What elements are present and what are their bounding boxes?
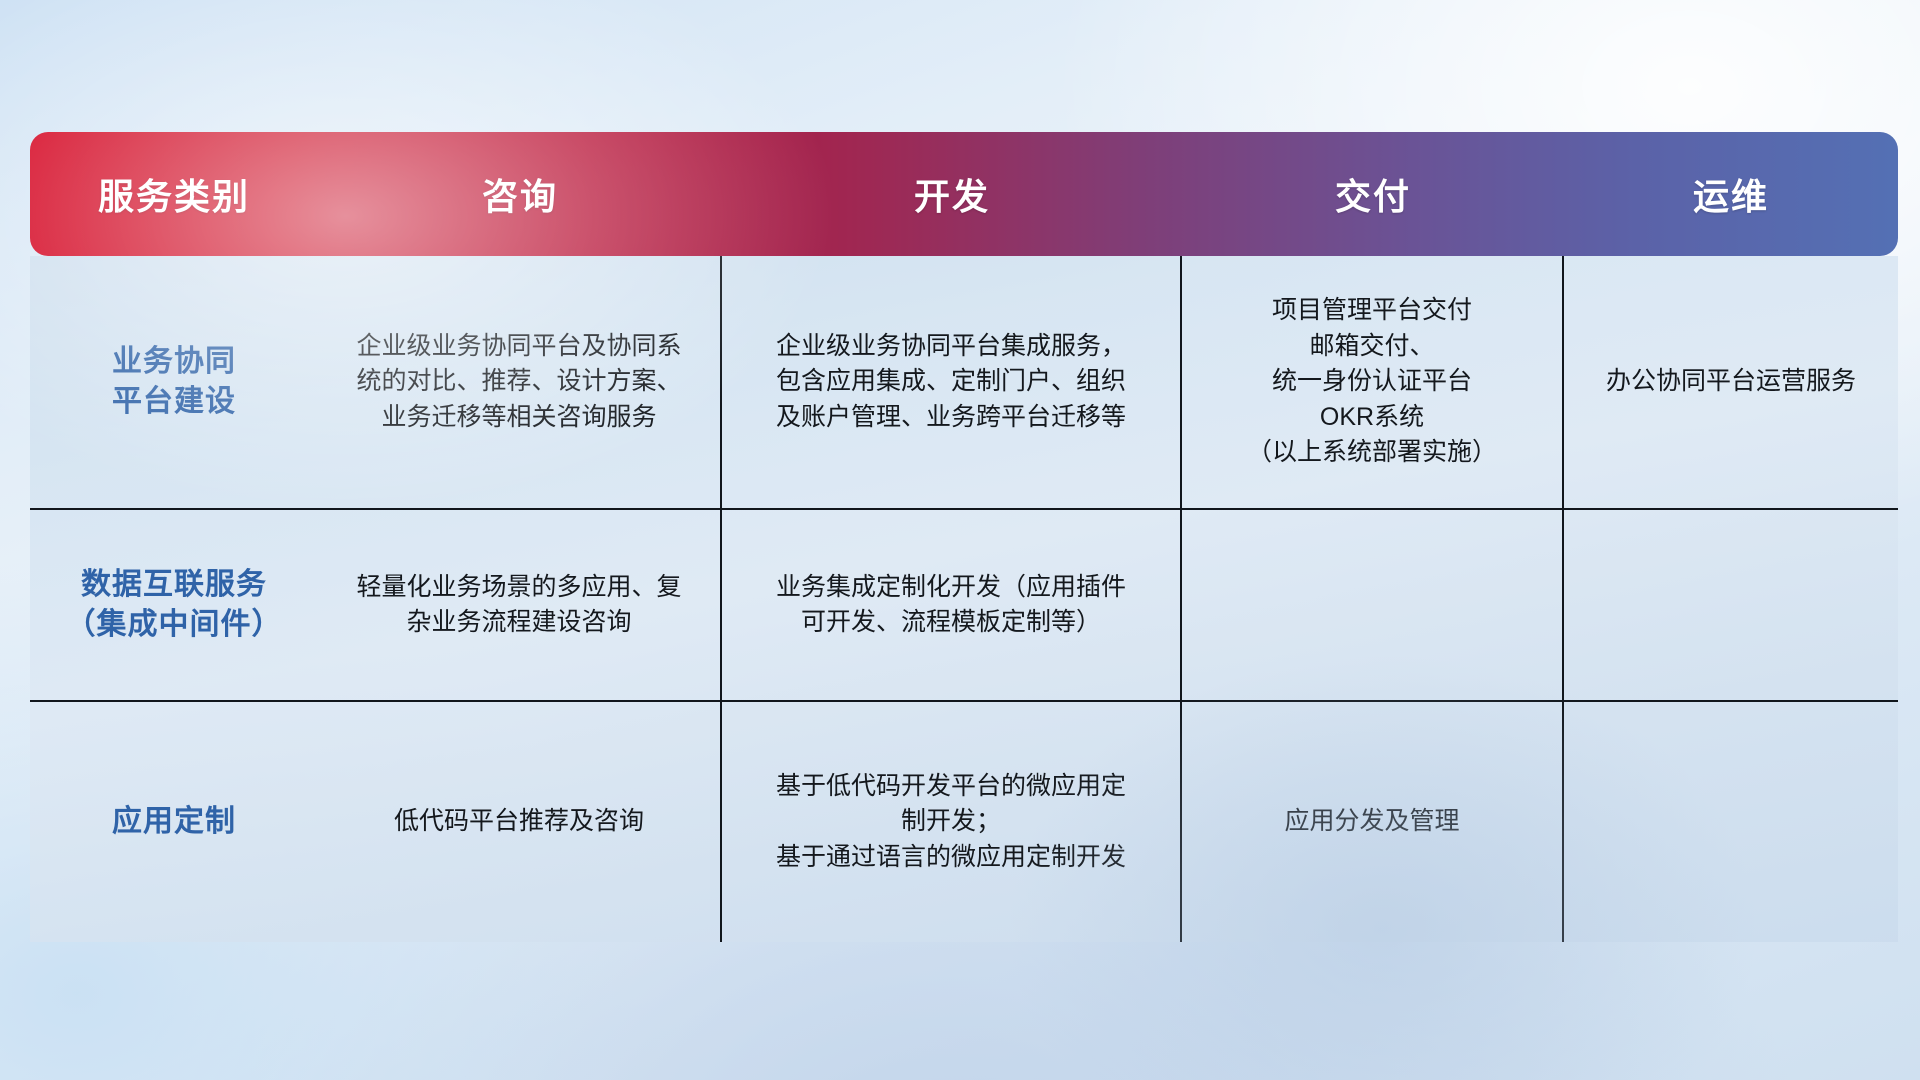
header-cell-development: 开发 <box>722 132 1182 256</box>
table-row: 业务协同 平台建设 企业级业务协同平台及协同系 统的对比、推荐、设计方案、 业务… <box>30 256 1898 508</box>
header-label-service-category: 服务类别 <box>98 168 250 220</box>
header-label-delivery: 交付 <box>1335 168 1411 220</box>
cell-operations: 办公协同平台运营服务 <box>1564 256 1898 508</box>
header-label-consulting: 咨询 <box>482 168 558 220</box>
header-cell-consulting: 咨询 <box>318 132 722 256</box>
cell-operations <box>1564 510 1898 700</box>
header-label-operations: 运维 <box>1693 168 1769 220</box>
header-cell-service-category: 服务类别 <box>30 132 318 256</box>
cell-delivery <box>1182 510 1564 700</box>
row-category-label: 业务协同 平台建设 <box>30 256 318 508</box>
row-category-label: 应用定制 <box>30 702 318 942</box>
service-matrix-table: 服务类别 咨询 开发 交付 运维 业务协同 平台建设 企业级业务协同平台及协同系… <box>30 132 1898 952</box>
header-label-development: 开发 <box>914 168 990 220</box>
table-header-row: 服务类别 咨询 开发 交付 运维 <box>30 132 1898 256</box>
cell-development: 业务集成定制化开发（应用插件 可开发、流程模板定制等） <box>722 510 1182 700</box>
slide-canvas: 服务类别 咨询 开发 交付 运维 业务协同 平台建设 企业级业务协同平台及协同系… <box>0 0 1920 1080</box>
header-cell-operations: 运维 <box>1564 132 1898 256</box>
table-row: 数据互联服务 （集成中间件） 轻量化业务场景的多应用、复 杂业务流程建设咨询 业… <box>30 508 1898 700</box>
table-body: 业务协同 平台建设 企业级业务协同平台及协同系 统的对比、推荐、设计方案、 业务… <box>30 256 1898 942</box>
table-row: 应用定制 低代码平台推荐及咨询 基于低代码开发平台的微应用定 制开发； 基于通过… <box>30 700 1898 942</box>
cell-consulting: 企业级业务协同平台及协同系 统的对比、推荐、设计方案、 业务迁移等相关咨询服务 <box>318 256 722 508</box>
cell-consulting: 轻量化业务场景的多应用、复 杂业务流程建设咨询 <box>318 510 722 700</box>
cell-delivery: 项目管理平台交付 邮箱交付、 统一身份认证平台 OKR系统 （以上系统部署实施） <box>1182 256 1564 508</box>
cell-development: 基于低代码开发平台的微应用定 制开发； 基于通过语言的微应用定制开发 <box>722 702 1182 942</box>
row-category-label: 数据互联服务 （集成中间件） <box>30 510 318 700</box>
header-cell-delivery: 交付 <box>1182 132 1564 256</box>
cell-development: 企业级业务协同平台集成服务， 包含应用集成、定制门户、组织 及账户管理、业务跨平… <box>722 256 1182 508</box>
cell-consulting: 低代码平台推荐及咨询 <box>318 702 722 942</box>
cell-delivery: 应用分发及管理 <box>1182 702 1564 942</box>
cell-operations <box>1564 702 1898 942</box>
